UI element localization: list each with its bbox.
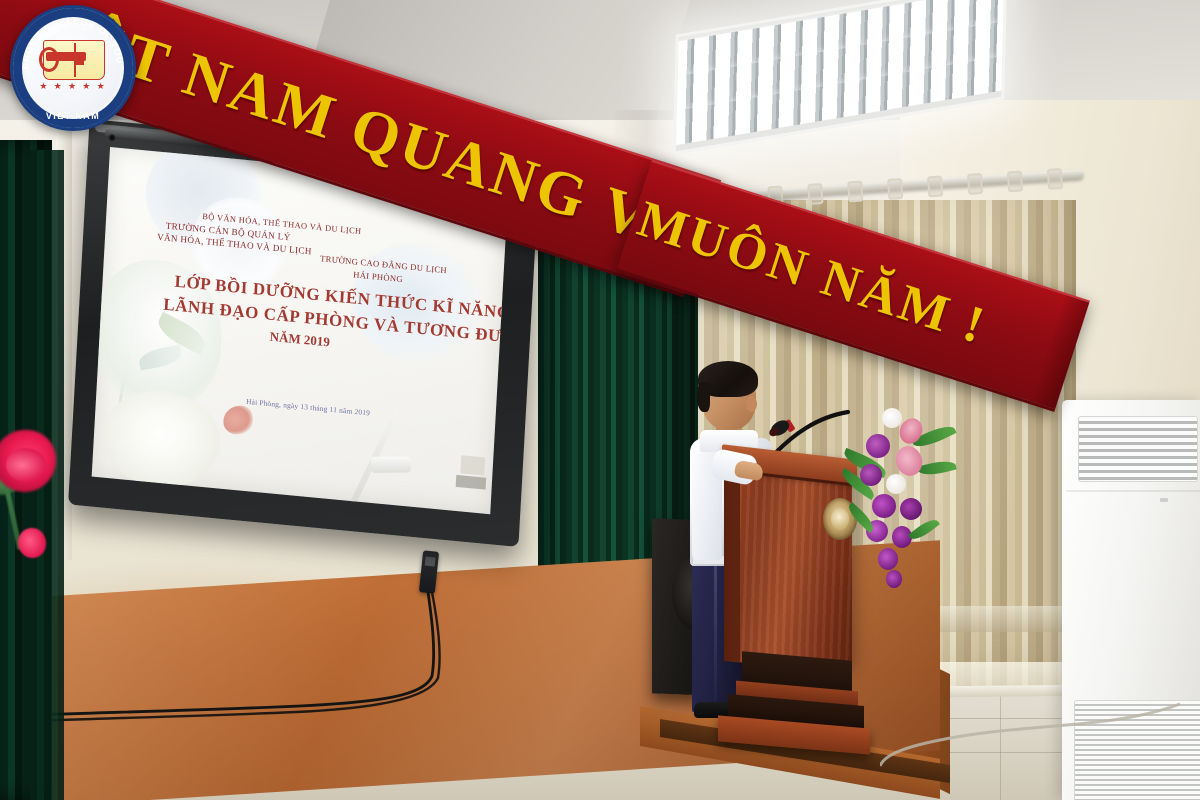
key-icon — [46, 52, 86, 61]
college-logo: HAI PHONG COLLEGE OF TOURISM ★ ★ ★ ★ ★ V… — [10, 5, 136, 131]
conference-hall-photo: BỘ VĂN HÓA, THỂ THAO VÀ DU LỊCH TRƯỜNG C… — [0, 0, 1200, 800]
podium-emblem-center — [831, 508, 849, 530]
flower-arrangement — [852, 412, 952, 592]
logo-country-label: VIET NAM — [13, 111, 133, 121]
slide-year: NĂM 2019 — [269, 329, 330, 351]
podium-wood-grain — [740, 462, 852, 662]
trouser-crease — [714, 566, 717, 708]
air-conditioner-indicator — [1160, 498, 1168, 502]
slide-place-date: Hải Phòng, ngày 13 tháng 11 năm 2019 — [246, 397, 370, 418]
air-conditioner-top-grille — [1078, 416, 1198, 482]
logo-stars: ★ ★ ★ ★ ★ — [13, 81, 133, 92]
floor-cable — [880, 700, 1200, 790]
air-conditioner-seam — [1066, 490, 1200, 492]
slide-decor-pen-cap — [370, 456, 411, 472]
slide-decor-butterfly — [221, 404, 255, 435]
speaker-sideburn — [697, 382, 710, 412]
whiteboard-sensor-icon — [108, 134, 115, 142]
whiteboard-label — [460, 455, 485, 475]
lotus-bloom-inner — [6, 448, 46, 482]
